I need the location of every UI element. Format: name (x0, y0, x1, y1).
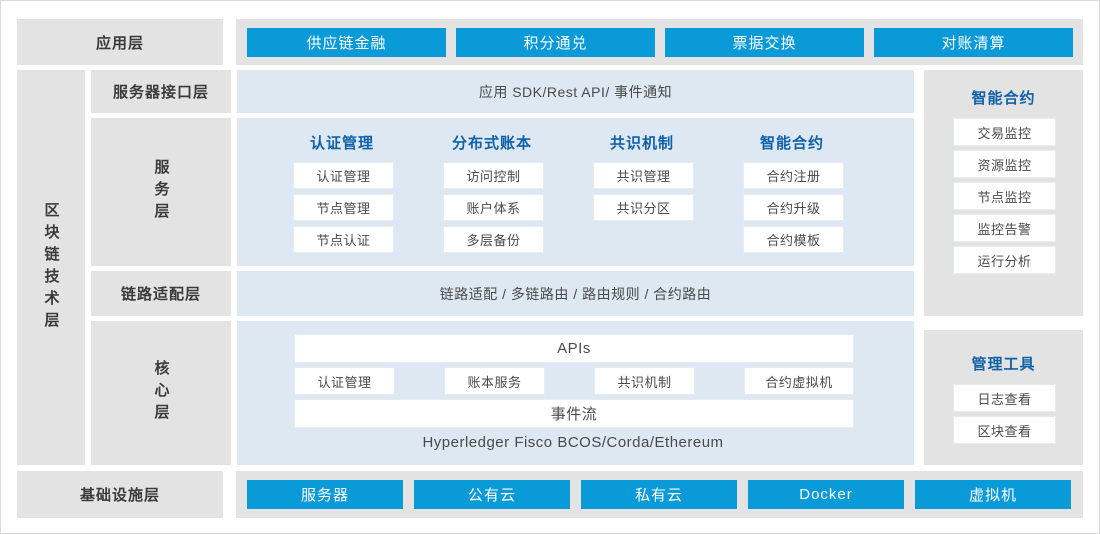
side-panel-0-item-0[interactable]: 交易监控 (953, 118, 1056, 146)
architecture-diagram: 应用层 供应链金融 积分通兑 票据交换 对账清算 区块链技术层 服务器接口层 服… (0, 0, 1100, 534)
service-item-2-0[interactable]: 共识管理 (593, 162, 694, 189)
side-panel-1-item-0[interactable]: 日志查看 (953, 384, 1056, 412)
side-panel-smart-contract: 智能合约 交易监控 资源监控 节点监控 监控告警 运行分析 (924, 70, 1083, 316)
app-button-3[interactable]: 对账清算 (874, 28, 1073, 57)
app-button-0[interactable]: 供应链金融 (247, 28, 446, 57)
service-column-header-2: 共识机制 (583, 132, 701, 153)
core-layer-panel: APIs 认证管理 账本服务 共识机制 合约虚拟机 事件流 Hyperledge… (237, 321, 914, 465)
service-layer-label-container: 服务层 (91, 118, 231, 266)
blockchain-tech-layer-label-container: 区块链技术层 (17, 70, 85, 465)
service-item-1-0[interactable]: 访问控制 (443, 162, 544, 189)
core-module-2[interactable]: 共识机制 (594, 367, 695, 395)
infrastructure-layer-buttons-strip: 服务器 公有云 私有云 Docker 虚拟机 (236, 471, 1083, 518)
side-panel-0-item-3[interactable]: 监控告警 (953, 214, 1056, 242)
application-layer-buttons-strip: 供应链金融 积分通兑 票据交换 对账清算 (236, 19, 1083, 65)
side-panel-1-item-1[interactable]: 区块查看 (953, 416, 1056, 444)
side-panel-management-tools-header: 管理工具 (924, 353, 1083, 374)
side-panel-0-item-2[interactable]: 节点监控 (953, 182, 1056, 210)
app-button-1[interactable]: 积分通兑 (456, 28, 655, 57)
side-panel-smart-contract-header: 智能合约 (924, 87, 1083, 108)
service-item-2-1[interactable]: 共识分区 (593, 194, 694, 221)
service-item-0-1[interactable]: 节点管理 (293, 194, 394, 221)
service-item-0-0[interactable]: 认证管理 (293, 162, 394, 189)
application-layer-label: 应用层 (17, 19, 223, 65)
service-item-3-0[interactable]: 合约注册 (743, 162, 844, 189)
infra-button-1[interactable]: 公有云 (414, 480, 570, 509)
core-apis-bar[interactable]: APIs (294, 334, 854, 363)
server-interface-layer-label: 服务器接口层 (91, 70, 231, 113)
core-event-stream-bar[interactable]: 事件流 (294, 399, 854, 428)
service-layer-panel: 认证管理 认证管理 节点管理 节点认证 分布式账本 访问控制 账户体系 多层备份… (237, 118, 914, 266)
service-column-header-3: 智能合约 (733, 132, 851, 153)
app-button-2[interactable]: 票据交换 (665, 28, 864, 57)
service-item-1-2[interactable]: 多层备份 (443, 226, 544, 253)
core-layer-footer: Hyperledger Fisco BCOS/Corda/Ethereum (294, 429, 852, 455)
side-panel-0-item-4[interactable]: 运行分析 (953, 246, 1056, 274)
service-item-3-2[interactable]: 合约模板 (743, 226, 844, 253)
service-layer-label: 服务层 (154, 159, 169, 225)
core-module-1[interactable]: 账本服务 (444, 367, 545, 395)
link-adapter-layer-content: 链路适配 / 多链路由 / 路由规则 / 合约路由 (237, 271, 914, 316)
service-item-1-1[interactable]: 账户体系 (443, 194, 544, 221)
blockchain-tech-layer-label: 区块链技术层 (44, 202, 59, 334)
server-interface-layer-content: 应用 SDK/Rest API/ 事件通知 (237, 70, 914, 113)
infra-button-2[interactable]: 私有云 (581, 480, 737, 509)
infra-button-4[interactable]: 虚拟机 (915, 480, 1071, 509)
link-adapter-layer-label: 链路适配层 (91, 271, 231, 316)
core-layer-label-container: 核心层 (91, 321, 231, 465)
side-panel-0-item-1[interactable]: 资源监控 (953, 150, 1056, 178)
service-item-0-2[interactable]: 节点认证 (293, 226, 394, 253)
service-column-header-0: 认证管理 (283, 132, 401, 153)
service-column-header-1: 分布式账本 (433, 132, 551, 153)
service-item-3-1[interactable]: 合约升级 (743, 194, 844, 221)
infra-button-3[interactable]: Docker (748, 480, 904, 509)
side-panel-management-tools: 管理工具 日志查看 区块查看 (924, 330, 1083, 465)
core-module-3[interactable]: 合约虚拟机 (744, 367, 854, 395)
infrastructure-layer-label: 基础设施层 (17, 471, 223, 518)
core-layer-label: 核心层 (154, 360, 169, 426)
core-module-0[interactable]: 认证管理 (294, 367, 395, 395)
infra-button-0[interactable]: 服务器 (247, 480, 403, 509)
